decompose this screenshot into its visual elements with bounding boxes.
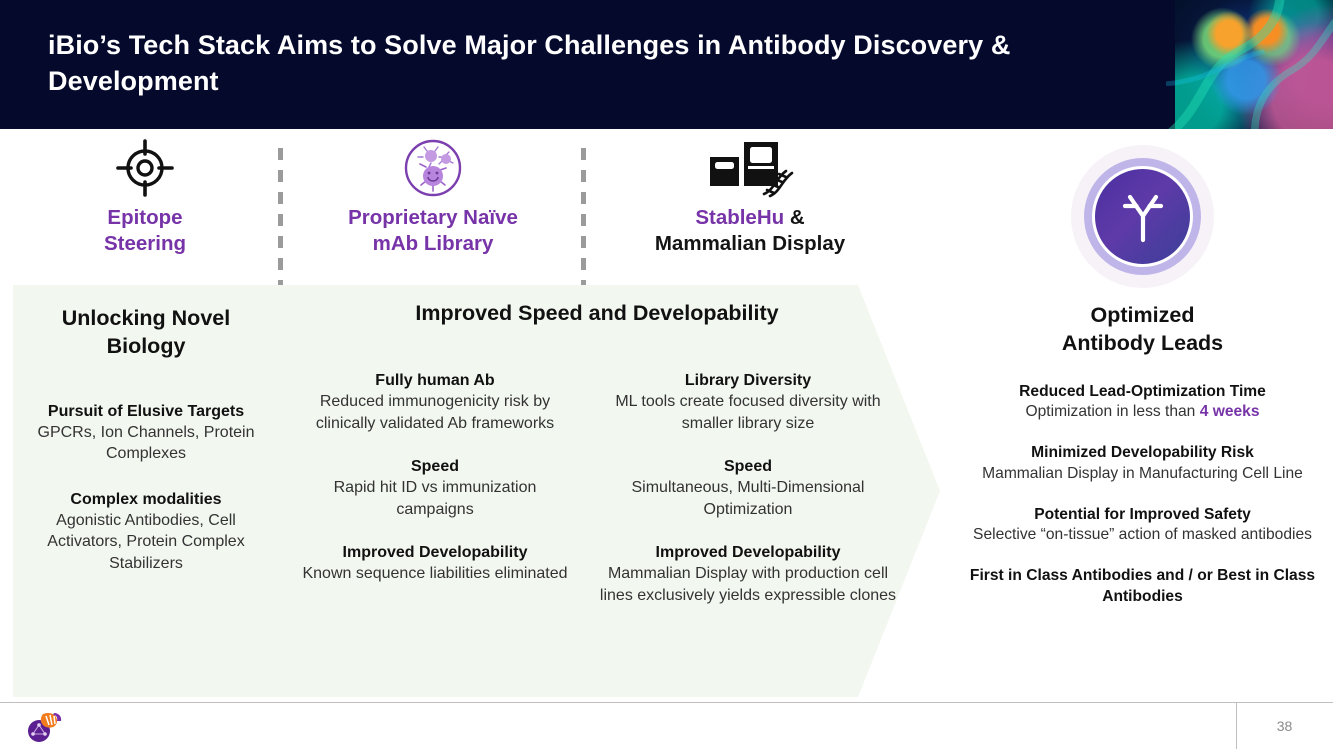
content-block: Complex modalities Agonistic Antibodies,…	[14, 489, 278, 574]
page-number: 38	[1236, 718, 1333, 734]
antibody-molecule-render-icon	[1175, 0, 1333, 129]
heading-line-1: Unlocking Novel	[62, 306, 230, 330]
block-body: Reduced immunogenicity risk by clinicall…	[302, 391, 568, 434]
content-block: Speed Simultaneous, Multi-Dimensional Op…	[592, 456, 904, 520]
optimized-leads-panel: Optimized Antibody Leads Reduced Lead-Op…	[952, 133, 1333, 693]
content-block: Speed Rapid hit ID vs immunization campa…	[290, 456, 580, 520]
column-header-label: Proprietary Naïve mAb Library	[348, 205, 518, 257]
footer-divider	[0, 702, 1333, 703]
block-title: Pursuit of Elusive Targets	[36, 401, 256, 422]
label-ampersand: &	[784, 206, 805, 229]
ibio-logo-icon	[24, 710, 64, 744]
column-header-stablehu-mammalian-display: StableHu & Mammalian Display	[592, 129, 908, 285]
column-header-naive-mab-library: Proprietary Naïve mAb Library	[290, 129, 576, 285]
output-block: Potential for Improved Safety Selective …	[952, 505, 1333, 546]
column-header-epitope-steering: Epitope Steering	[14, 129, 276, 285]
label-line-1: Proprietary Naïve	[348, 206, 518, 229]
label-line-2: Steering	[104, 232, 186, 255]
block-body: Known sequence liabilities eliminated	[300, 563, 570, 584]
block-title: Fully human Ab	[302, 370, 568, 391]
badge-disc	[1092, 166, 1193, 267]
output-block: Reduced Lead-Optimization Time Optimizat…	[952, 382, 1333, 423]
content-block: Pursuit of Elusive Targets GPCRs, Ion Ch…	[14, 401, 278, 465]
output-panel-title: Optimized Antibody Leads	[952, 302, 1333, 358]
antibody-y-shape-icon	[1071, 145, 1214, 288]
block-title: Speed	[618, 456, 878, 477]
panel-column-naive-mab-library: Fully human Ab Reduced immunogenicity ri…	[290, 285, 580, 585]
block-title: Improved Developability	[300, 542, 570, 563]
crosshair-target-icon	[115, 137, 175, 199]
block-body: Rapid hit ID vs immunization campaigns	[296, 477, 574, 520]
molecule-strand-decor	[1166, 0, 1333, 129]
block-body-prefix: Optimization in less than	[1025, 403, 1199, 420]
page-title: iBio’s Tech Stack Aims to Solve Major Ch…	[48, 28, 1158, 100]
label-line-2: mAb Library	[373, 232, 494, 255]
bioreactor-vessels-dna-icon	[704, 137, 796, 199]
title-line-2: Antibody Leads	[1062, 331, 1223, 355]
block-body: Simultaneous, Multi-Dimensional Optimiza…	[618, 477, 878, 520]
column-header-label: Epitope Steering	[104, 205, 186, 257]
block-body: Mammalian Display with production cell l…	[598, 563, 898, 606]
content-block: Library Diversity ML tools create focuse…	[592, 370, 904, 434]
block-body: Agonistic Antibodies, Cell Activators, P…	[40, 510, 252, 574]
output-block: First in Class Antibodies and / or Best …	[952, 566, 1333, 608]
label-line-1: Epitope	[107, 206, 182, 229]
content-block: Fully human Ab Reduced immunogenicity ri…	[290, 370, 580, 434]
column-heading: Unlocking Novel Biology	[35, 305, 257, 361]
output-block: Minimized Developability Risk Mammalian …	[952, 443, 1333, 484]
content-block: Improved Developability Mammalian Displa…	[592, 542, 904, 606]
cell-with-antibodies-icon	[402, 137, 464, 199]
slide-root: iBio’s Tech Stack Aims to Solve Major Ch…	[0, 0, 1333, 749]
block-title: First in Class Antibodies and / or Best …	[966, 566, 1319, 608]
title-line-1: Optimized	[1091, 303, 1195, 327]
panel-column-epitope-steering: Unlocking Novel Biology Pursuit of Elusi…	[14, 285, 278, 574]
content-block: Improved Developability Known sequence l…	[290, 542, 580, 585]
block-title: Minimized Developability Risk	[976, 443, 1309, 464]
block-body: ML tools create focused diversity with s…	[614, 391, 882, 434]
brand-word-stablehu: StableHu	[695, 206, 784, 229]
column-headers: Epitope Steering	[0, 129, 940, 285]
block-body-accent: 4 weeks	[1200, 403, 1260, 420]
label-line-2: Mammalian Display	[655, 232, 845, 255]
block-body: Selective “on-tissue” action of masked a…	[968, 525, 1317, 546]
block-body: Optimization in less than 4 weeks	[952, 402, 1333, 423]
block-body: GPCRs, Ion Channels, Protein Complexes	[36, 422, 256, 465]
process-arrow-panel: Improved Speed and Developability Unlock…	[13, 285, 940, 697]
slide-header: iBio’s Tech Stack Aims to Solve Major Ch…	[0, 0, 1333, 129]
block-title: Improved Developability	[598, 542, 898, 563]
block-title: Complex modalities	[40, 489, 252, 510]
block-title: Speed	[296, 456, 574, 477]
heading-line-2: Biology	[107, 334, 186, 358]
block-body: Mammalian Display in Manufacturing Cell …	[976, 464, 1309, 485]
column-header-label: StableHu & Mammalian Display	[655, 205, 845, 257]
block-title: Reduced Lead-Optimization Time	[952, 382, 1333, 403]
block-title: Library Diversity	[614, 370, 882, 391]
block-title: Potential for Improved Safety	[968, 505, 1317, 526]
panel-column-stablehu-mammalian-display: Library Diversity ML tools create focuse…	[592, 285, 904, 606]
